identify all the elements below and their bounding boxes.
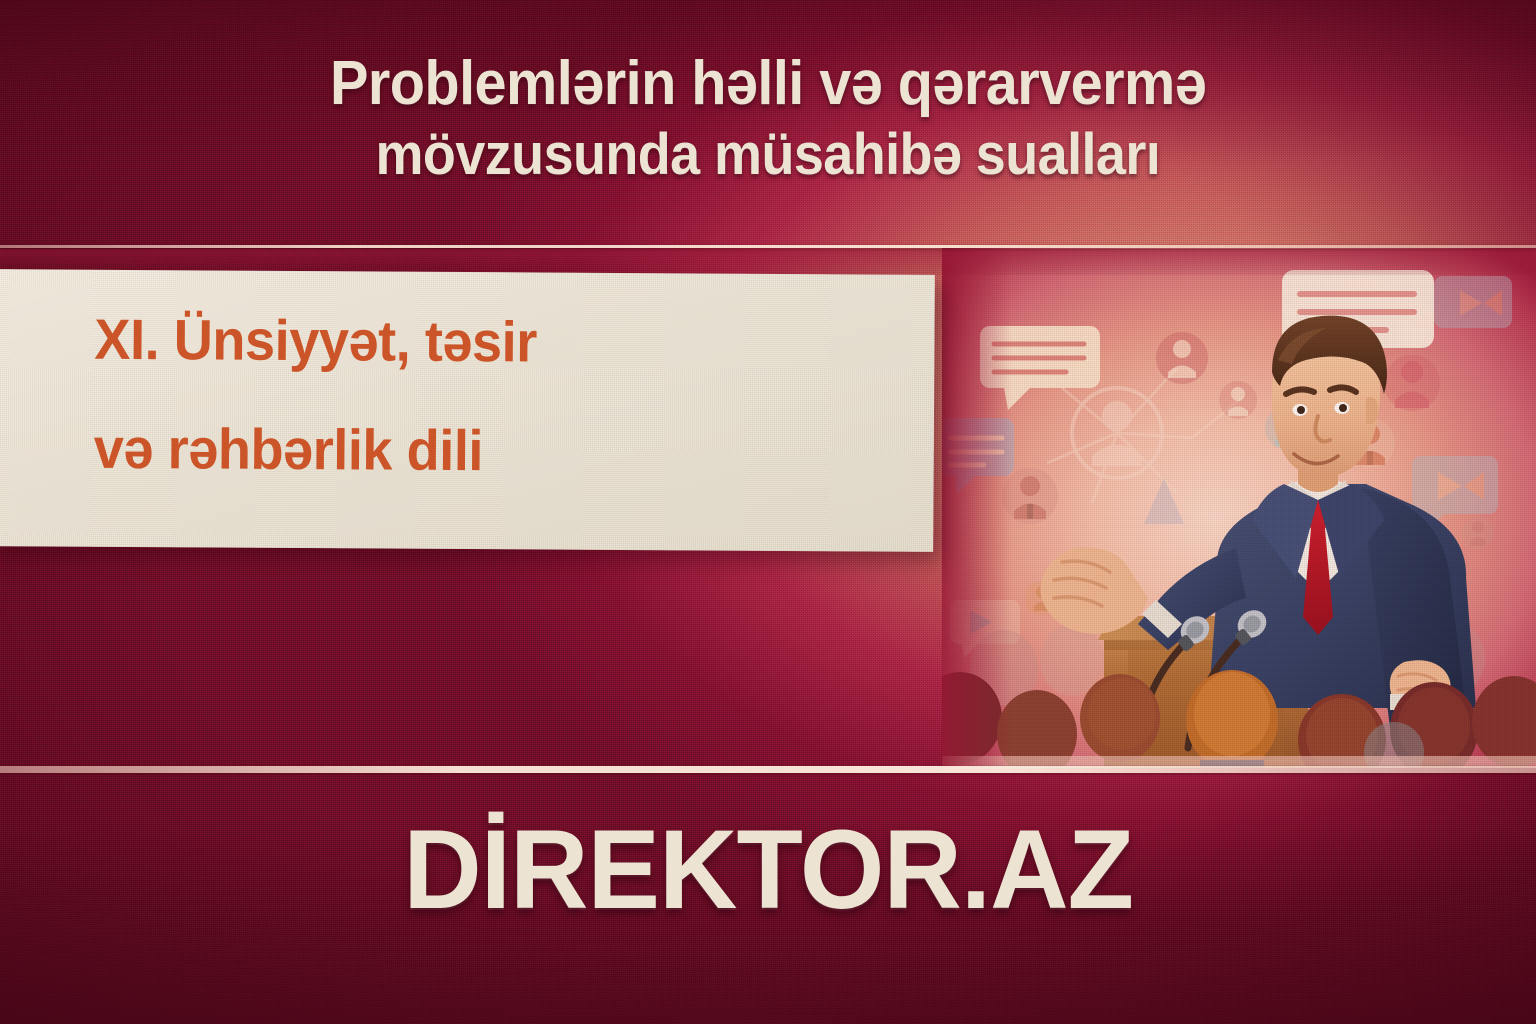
- section-title-line-2: və rəhbərlik dili: [94, 421, 873, 483]
- speaker-illustration: [942, 248, 1536, 768]
- section-title-card: XI. Ünsiyyət, təsir və rəhbərlik dili: [0, 269, 935, 552]
- poster-title-line-2: mövzusunda müsahibə sualları: [376, 125, 1161, 184]
- divider-bottom: [0, 766, 1536, 773]
- illustration-left-fade: [942, 248, 1012, 768]
- poster-canvas: Problemlərin həlli və qərarvermə mövzusu…: [0, 0, 1536, 1024]
- poster-title-line-1: Problemlərin həlli və qərarvermə: [330, 52, 1206, 115]
- divider-top: [0, 245, 1536, 248]
- illustration-texture: [942, 248, 1536, 768]
- brand-wordmark: DİREKTOR.AZ: [403, 805, 1133, 934]
- section-title-line-1: XI. Ünsiyyət, təsir: [94, 312, 873, 374]
- poster-footer: DİREKTOR.AZ: [0, 773, 1536, 1024]
- poster-header: Problemlərin həlli və qərarvermə mövzusu…: [0, 0, 1536, 246]
